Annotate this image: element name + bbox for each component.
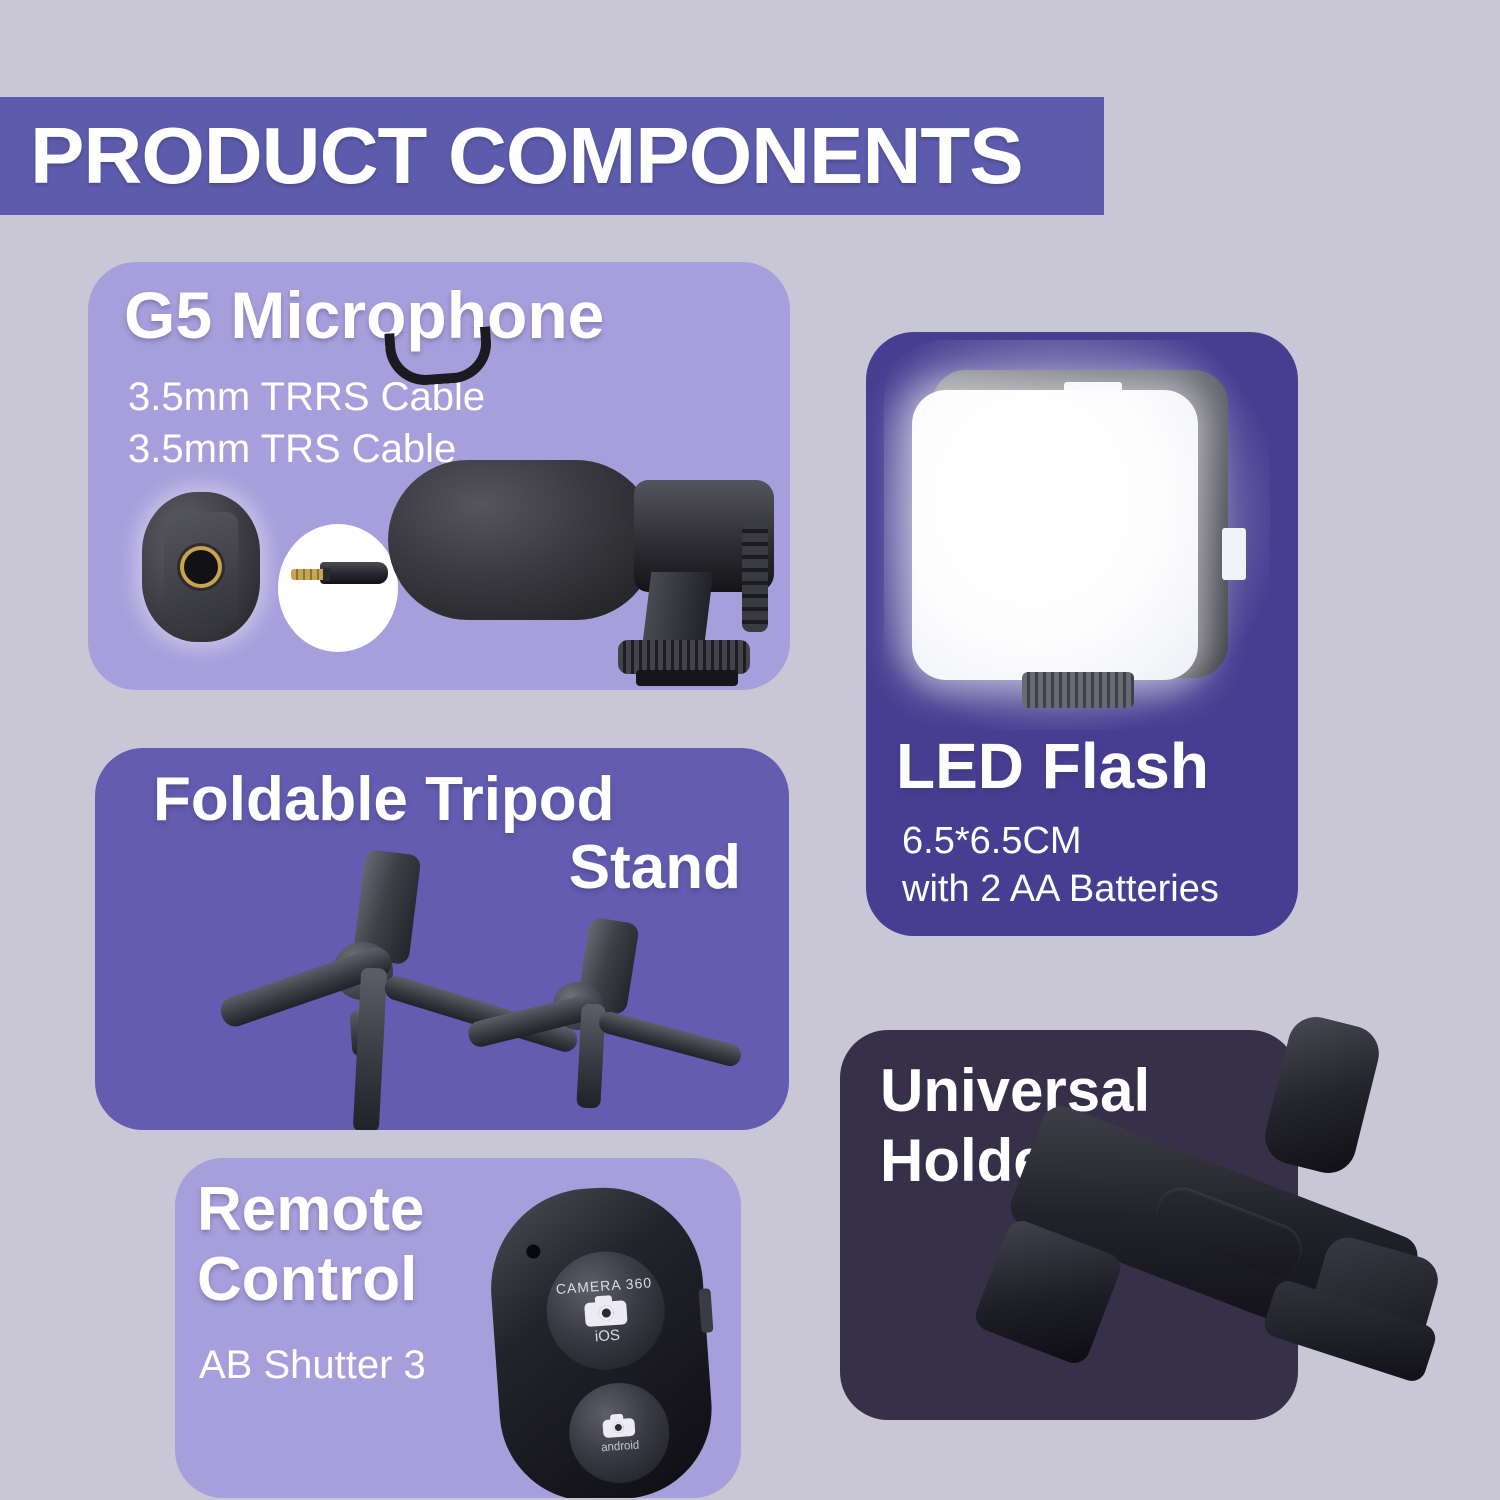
audio-plug-pin: [291, 569, 327, 580]
camera-icon: [602, 1412, 636, 1437]
remote-ios-button-bottom-label: iOS: [594, 1326, 620, 1345]
remote-side-button-icon: [698, 1288, 713, 1333]
card-tripod-stand[interactable]: Foldable Tripod Stand: [95, 748, 789, 1130]
card-tripod-stand-inner: Foldable Tripod Stand: [95, 748, 789, 1130]
holder-upper-arm: [1259, 1011, 1385, 1179]
remote-pinhole-icon: [526, 1244, 541, 1259]
tripod-folded-image: [475, 924, 725, 1104]
remote-android-button[interactable]: android: [566, 1380, 673, 1487]
card-led-flash[interactable]: LED Flash 6.5*6.5CM with 2 AA Batteries: [866, 332, 1298, 936]
card-led-flash-inner: LED Flash 6.5*6.5CM with 2 AA Batteries: [866, 332, 1298, 936]
remote-model: AB Shutter 3: [199, 1340, 426, 1390]
tripod-folded-leg-left: [466, 993, 598, 1050]
microphone-rings: [742, 520, 768, 632]
tripod-title-line2: Stand: [569, 836, 741, 899]
plug-backdrop: [278, 524, 398, 652]
led-flash-size: 6.5*6.5CM: [902, 818, 1082, 866]
holder-cable-slot: [1149, 1180, 1310, 1283]
led-flash-batteries: with 2 AA Batteries: [902, 866, 1219, 914]
microphone-image: [388, 442, 788, 690]
led-side-button-icon: [1222, 528, 1246, 580]
jack-port-icon: [142, 492, 260, 642]
page-title: PRODUCT COMPONENTS: [30, 116, 1023, 196]
microphone-knurled-knob: [618, 640, 750, 674]
tripod-folded-leg-right: [597, 1009, 744, 1068]
header-banner: PRODUCT COMPONENTS: [0, 97, 1104, 215]
microphone-title: G5 Microphone: [124, 282, 604, 349]
card-remote-control[interactable]: Remote Control AB Shutter 3 CAMERA 360 i…: [175, 1158, 741, 1498]
tripod-title-line1: Foldable Tripod: [153, 768, 615, 831]
remote-title-line1: Remote: [197, 1178, 424, 1241]
led-diffuser-panel: [912, 390, 1198, 680]
microphone-shoe-plate: [636, 670, 738, 686]
led-flash-image: [912, 360, 1242, 710]
microphone-windscreen: [388, 460, 656, 620]
remote-ios-button-top-label: CAMERA 360: [555, 1274, 652, 1297]
universal-holder-image: [1080, 1020, 1500, 1440]
audio-plug-body: [320, 562, 388, 584]
remote-control-image: CAMERA 360 iOS android: [484, 1181, 717, 1498]
remote-title-line2: Control: [197, 1248, 417, 1311]
led-cold-shoe-mount: [1022, 672, 1134, 708]
infographic-stage: PRODUCT COMPONENTS G5 Microphone 3.5mm T…: [0, 0, 1500, 1500]
card-microphone-inner: G5 Microphone 3.5mm TRRS Cable 3.5mm TRS…: [88, 262, 790, 690]
remote-ios-button[interactable]: CAMERA 360 iOS: [543, 1248, 669, 1374]
led-flash-title: LED Flash: [896, 734, 1209, 799]
camera-icon: [584, 1294, 628, 1327]
card-remote-control-inner: Remote Control AB Shutter 3 CAMERA 360 i…: [175, 1158, 741, 1498]
card-microphone[interactable]: G5 Microphone 3.5mm TRRS Cable 3.5mm TRS…: [88, 262, 790, 690]
remote-android-button-label: android: [601, 1437, 640, 1454]
